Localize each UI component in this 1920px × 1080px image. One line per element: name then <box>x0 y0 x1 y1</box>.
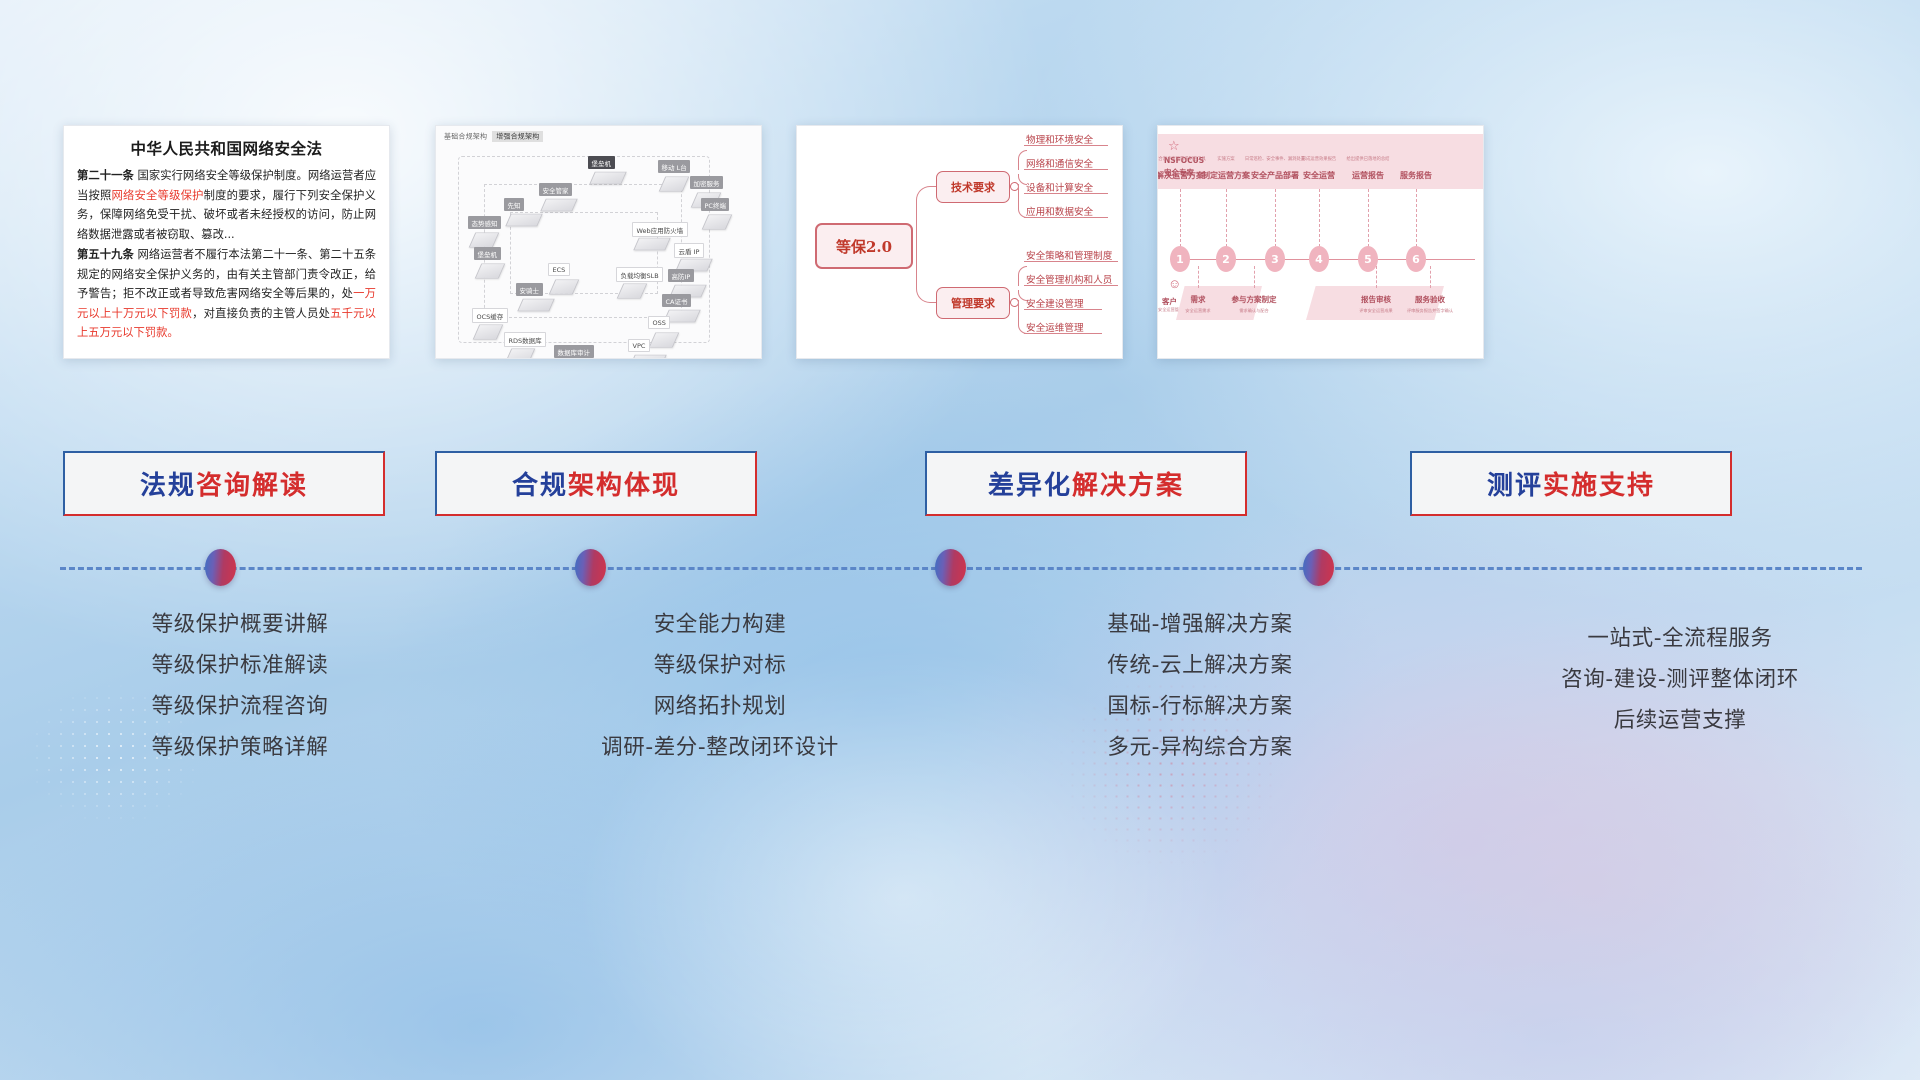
nsfocus-chip-title: 需求 <box>1191 294 1206 305</box>
headline-box-assessment[interactable]: 测评实施支持 <box>1410 451 1732 516</box>
law-article-59: 第五十九条 网络运营者不履行本法第二十一条、第二十五条规定的网络安全保护义务的，… <box>77 245 376 343</box>
architecture-node[interactable]: RDS数据库 <box>504 332 532 359</box>
architecture-node-glyph <box>475 264 506 279</box>
nsfocus-chip-connector <box>1198 266 1199 288</box>
headline-blue-part: 法规 <box>140 471 196 501</box>
architecture-node[interactable]: OCS缓存 <box>472 308 500 344</box>
headline-red-part: 咨询解读 <box>196 471 308 501</box>
nsfocus-step-sub: 形成运营效果报告 <box>1302 156 1336 162</box>
architecture-node-label: OCS缓存 <box>472 308 508 323</box>
headline-red-part: 解决方案 <box>1072 471 1184 501</box>
mindmap-leaf: 安全运维管理 <box>1026 320 1084 334</box>
nsfocus-chip-title: 报告审核 <box>1361 294 1391 305</box>
architecture-node[interactable]: ECS <box>548 263 576 299</box>
headline-blue-part: 差异化 <box>988 471 1072 501</box>
architecture-node-label: CA证书 <box>662 294 691 307</box>
list-item: 后续运营支撑 <box>1440 700 1920 741</box>
mindmap-leaf: 设备和计算安全 <box>1026 180 1093 194</box>
architecture-node[interactable]: 先知 <box>504 198 540 230</box>
architecture-node-glyph <box>589 172 627 184</box>
nsfocus-chip-sub: 评审安全运营成果 <box>1359 308 1393 314</box>
nsfocus-chip-sub: 评审服务报告并签字确认 <box>1407 308 1453 314</box>
architecture-node-label: 加密服务 <box>690 176 723 189</box>
architecture-node-glyph <box>505 214 543 226</box>
headline-red-part: 架构体现 <box>568 471 680 501</box>
list-item: 多元-异构综合方案 <box>960 727 1440 768</box>
list-item: 等级保护标准解读 <box>0 645 480 686</box>
architecture-node-glyph <box>629 355 667 359</box>
nsfocus-step-connector <box>1180 189 1181 247</box>
nsfocus-step-sub: 实施方案 <box>1217 156 1234 162</box>
architecture-node-label: OSS <box>648 316 670 329</box>
architecture-node-glyph <box>469 233 500 248</box>
architecture-node-glyph <box>517 299 555 311</box>
list-item: 调研-差分-整改闭环设计 <box>480 727 960 768</box>
nsfocus-chip-sub: 需求确认与配合 <box>1239 308 1268 314</box>
architecture-node-glyph <box>505 349 536 359</box>
timeline-marker-4[interactable] <box>1303 549 1334 586</box>
architecture-node[interactable]: VPC <box>628 339 664 359</box>
card-nsfocus-timeline[interactable]: ☆ NSFOCUS 安全专家 结合客户实际需求制定工具解决运营方案1实施方案制定… <box>1157 125 1484 359</box>
architecture-node-glyph <box>549 280 580 295</box>
nsfocus-chip-connector <box>1254 266 1255 288</box>
column-assessment: ☆ NSFOCUS 安全专家 结合客户实际需求制定工具解决运营方案1实施方案制定… <box>1440 0 1920 1080</box>
nsfocus-step-connector <box>1368 189 1369 247</box>
architecture-node-label: 安全管家 <box>539 183 572 196</box>
service-list-regulation: 等级保护概要讲解 等级保护标准解读 等级保护流程咨询 等级保护策略详解 <box>0 604 480 768</box>
nsfocus-step-number[interactable]: 5 <box>1358 246 1378 272</box>
nsfocus-step-title: 服务报告 <box>1400 170 1432 181</box>
user-star-icon: ☆ <box>1168 138 1180 154</box>
service-list-architecture: 安全能力构建 等级保护对标 网络拓扑规划 调研-差分-整改闭环设计 <box>480 604 960 768</box>
architecture-diagram: 基础合规架构增强合规架构 堡垒机安全管家先知态势感知堡垒机ECS安骑士OCS缓存… <box>436 126 761 358</box>
service-list-assessment: 一站式-全流程服务 咨询-建设-测评整体闭环 后续运营支撑 <box>1440 618 1920 741</box>
nsfocus-customer-label: 客户 <box>1162 296 1177 307</box>
column-regulation: 中华人民共和国网络安全法 第二十一条 国家实行网络安全等级保护制度。网络运营者应… <box>0 0 480 1080</box>
architecture-node-label: 堡垒机 <box>588 156 615 169</box>
list-item: 安全能力构建 <box>480 604 960 645</box>
architecture-node[interactable]: 安骑士 <box>516 283 552 315</box>
nsfocus-chip-sub: 安全运营需求 <box>1185 308 1210 314</box>
architecture-node-label: 态势感知 <box>468 216 501 229</box>
nsfocus-step-number[interactable]: 6 <box>1406 246 1426 272</box>
architecture-node-label: 数据库审计 <box>554 345 594 358</box>
architecture-node[interactable]: 数据库审计 <box>554 345 582 359</box>
nsfocus-step-number[interactable]: 2 <box>1216 246 1236 272</box>
architecture-node-glyph <box>702 215 733 230</box>
list-item: 传统-云上解决方案 <box>960 645 1440 686</box>
timeline-marker-1[interactable] <box>205 549 236 586</box>
list-item: 网络拓扑规划 <box>480 686 960 727</box>
architecture-node-label: RDS数据库 <box>504 332 546 347</box>
architecture-node-glyph <box>659 177 690 192</box>
architecture-tabs[interactable]: 基础合规架构增强合规架构 <box>442 131 543 141</box>
tab-enhanced-framework[interactable]: 增强合规架构 <box>492 131 543 142</box>
nsfocus-chip-title: 参与方案制定 <box>1232 294 1277 305</box>
architecture-node[interactable]: 移动 L台 <box>658 160 686 196</box>
customer-icon: ☺ <box>1168 276 1181 291</box>
tab-basic-framework[interactable]: 基础合规架构 <box>442 131 489 142</box>
law-article-21: 第二十一条 国家实行网络安全等级保护制度。网络运营者应当按照网络安全等级保护制度… <box>77 166 376 244</box>
architecture-node[interactable]: 负载均衡SLB <box>616 267 644 303</box>
nsfocus-step-number[interactable]: 1 <box>1170 246 1190 272</box>
mindmap-branch-management[interactable]: 管理要求 <box>936 287 1010 319</box>
service-list-solution: 基础-增强解决方案 传统-云上解决方案 国标-行标解决方案 多元-异构综合方案 <box>960 604 1440 768</box>
architecture-node-glyph <box>633 238 671 250</box>
mindmap-leaf: 安全策略和管理制度 <box>1026 248 1112 262</box>
headline-blue-part: 合规 <box>512 471 568 501</box>
law-article-59-label: 第五十九条 <box>77 248 134 261</box>
architecture-node-label: VPC <box>628 339 650 352</box>
nsfocus-step-sub: 给出提供已落地的总结 <box>1347 156 1390 162</box>
nsfocus-step-number[interactable]: 3 <box>1265 246 1285 272</box>
timeline-marker-3[interactable] <box>935 549 966 586</box>
headline-box-solution[interactable]: 差异化解决方案 <box>925 451 1247 516</box>
nsfocus-chip-connector <box>1430 266 1431 288</box>
card-cloud-architecture[interactable]: 基础合规架构增强合规架构 堡垒机安全管家先知态势感知堡垒机ECS安骑士OCS缓存… <box>435 125 762 359</box>
architecture-node[interactable]: 安全管家 <box>539 183 575 215</box>
list-item: 等级保护流程咨询 <box>0 686 480 727</box>
nsfocus-step-connector <box>1416 189 1417 247</box>
nsfocus-step-title: 解决运营方案 <box>1157 170 1204 181</box>
nsfocus-step-connector <box>1275 189 1276 247</box>
nsfocus-step-title: 运营报告 <box>1352 170 1384 181</box>
mindmap-branch-technical[interactable]: 技术要求 <box>936 171 1010 203</box>
law-article-21-highlight: 网络安全等级保护 <box>112 189 204 202</box>
list-item: 基础-增强解决方案 <box>960 604 1440 645</box>
nsfocus-step-title: 安全产品部署 <box>1251 170 1299 181</box>
list-item: 等级保护概要讲解 <box>0 604 480 645</box>
architecture-node[interactable]: 堡垒机 <box>588 156 624 188</box>
nsfocus-service-flow: ☆ NSFOCUS 安全专家 结合客户实际需求制定工具解决运营方案1实施方案制定… <box>1158 126 1483 358</box>
architecture-node[interactable]: 堡垒机 <box>474 247 502 283</box>
list-item: 一站式-全流程服务 <box>1440 618 1920 659</box>
headline-box-architecture[interactable]: 合规架构体现 <box>435 451 757 516</box>
nsfocus-step-sub: 日常巡检、安全事件、漏洞处置 <box>1245 156 1305 162</box>
mindmap-leaf: 安全管理机构和人员 <box>1026 272 1112 286</box>
architecture-node-label: Web应用防火墙 <box>632 222 688 237</box>
architecture-node[interactable]: PC终端 <box>701 198 729 234</box>
nsfocus-step-sub: 结合客户实际需求制定工具 <box>1157 156 1206 162</box>
architecture-node-glyph <box>473 325 504 340</box>
mindmap-root[interactable]: 等保2.0 <box>815 223 913 269</box>
mindmap-leaf: 网络和通信安全 <box>1026 156 1093 170</box>
mindmap: 等保2.0 技术要求 管理要求 物理和环境安全 网络和通信安全 设备和计算安全 … <box>797 126 1122 358</box>
list-item: 等级保护对标 <box>480 645 960 686</box>
list-item: 国标-行标解决方案 <box>960 686 1440 727</box>
architecture-node-label: PC终端 <box>701 198 729 211</box>
architecture-node-label: 堡垒机 <box>474 247 501 260</box>
mindmap-leaf: 应用和数据安全 <box>1026 204 1093 218</box>
headline-text-solution: 差异化解决方案 <box>988 465 1184 502</box>
architecture-node-label: 负载均衡SLB <box>616 267 663 282</box>
headline-blue-part: 测评 <box>1487 471 1543 501</box>
headline-box-regulation[interactable]: 法规咨询解读 <box>63 451 385 516</box>
law-title: 中华人民共和国网络安全法 <box>77 137 376 159</box>
card-mindmap-dengbao[interactable]: 等保2.0 技术要求 管理要求 物理和环境安全 网络和通信安全 设备和计算安全 … <box>796 125 1123 359</box>
nsfocus-step-connector <box>1226 189 1227 247</box>
architecture-node[interactable]: Web应用防火墙 <box>632 222 668 254</box>
nsfocus-step-title: 安全运营 <box>1303 170 1335 181</box>
nsfocus-chip-connector <box>1376 266 1377 288</box>
architecture-node-label: ECS <box>548 263 570 276</box>
architecture-node-glyph <box>617 284 648 299</box>
nsfocus-step-connector <box>1319 189 1320 247</box>
architecture-node-label: 先知 <box>504 198 524 211</box>
architecture-node-glyph <box>540 199 578 211</box>
card-cybersecurity-law[interactable]: 中华人民共和国网络安全法 第二十一条 国家实行网络安全等级保护制度。网络运营者应… <box>63 125 390 359</box>
headline-text-architecture: 合规架构体现 <box>512 465 680 502</box>
list-item: 咨询-建设-测评整体闭环 <box>1440 659 1920 700</box>
mindmap-leaf: 物理和环境安全 <box>1026 132 1093 146</box>
headline-text-regulation: 法规咨询解读 <box>140 465 308 502</box>
nsfocus-chip-title: 服务验收 <box>1415 294 1445 305</box>
architecture-node-label: 云盾 IP <box>674 243 704 258</box>
timeline-marker-2[interactable] <box>575 549 606 586</box>
headline-text-assessment: 测评实施支持 <box>1487 465 1655 502</box>
nsfocus-step-title: 制定运营方案 <box>1202 170 1250 181</box>
list-item: 等级保护策略详解 <box>0 727 480 768</box>
headline-red-part: 实施支持 <box>1543 471 1655 501</box>
law-article-21-label: 第二十一条 <box>77 169 134 182</box>
architecture-node-label: 移动 L台 <box>658 160 690 173</box>
nsfocus-step-number[interactable]: 4 <box>1309 246 1329 272</box>
mindmap-leaf: 安全建设管理 <box>1026 296 1084 310</box>
law-article-59-text2: ，对直接负责的主管人员处 <box>192 307 330 320</box>
architecture-node-label: 安骑士 <box>516 283 543 296</box>
architecture-node-label: 高防IP <box>668 269 694 282</box>
